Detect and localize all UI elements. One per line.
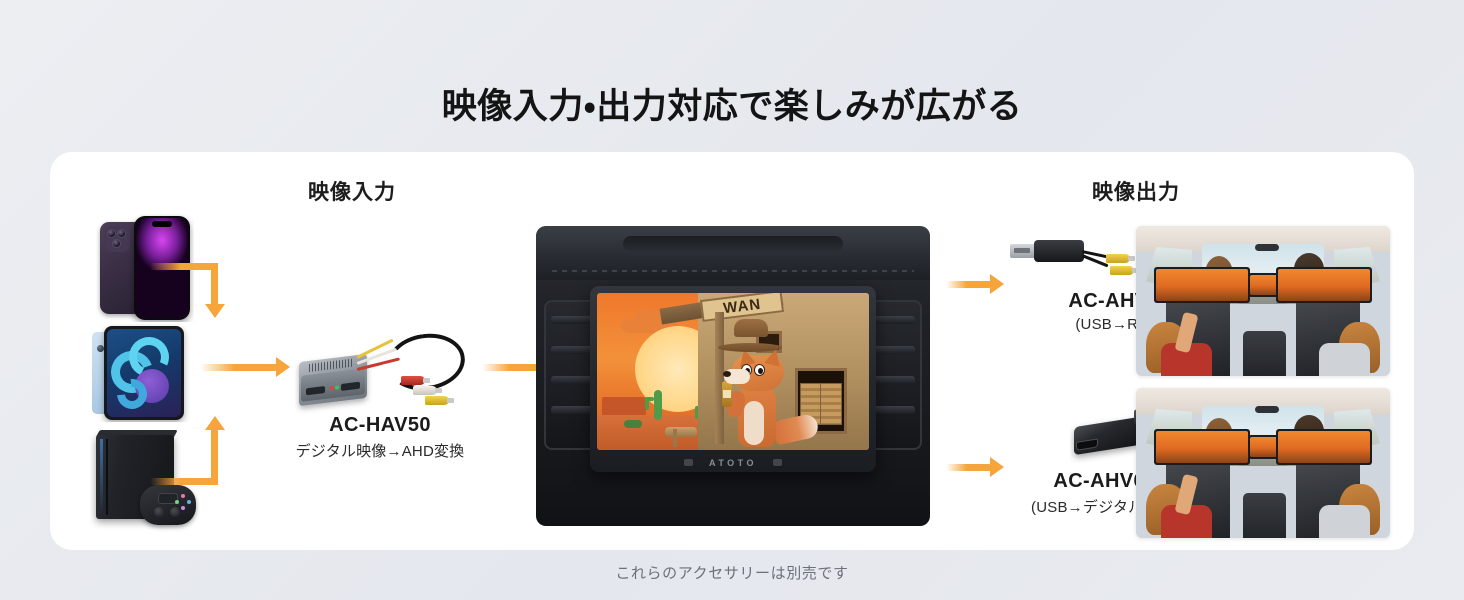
power-led-icon — [330, 386, 334, 390]
console-seam — [106, 439, 108, 515]
converter-name: AC-HAV50 — [250, 414, 510, 437]
usb-plug-icon — [1010, 244, 1036, 258]
camera-module-icon — [105, 227, 130, 252]
section-label-output: 映像出力 — [1092, 176, 1180, 206]
arrow-headunit-to-ahv48 — [946, 281, 992, 288]
arrow-phone-horizontal — [150, 263, 218, 270]
dashboard-stitching — [552, 270, 914, 272]
notch-icon — [152, 221, 172, 227]
adapter-housing — [1034, 240, 1084, 262]
barrel-leg — [673, 429, 677, 447]
section-label-input: 映像入力 — [308, 176, 396, 206]
fox-character — [722, 331, 804, 447]
fox-head — [732, 355, 784, 391]
bottle-label — [723, 390, 731, 398]
controller-button-icon — [187, 500, 191, 504]
center-console — [1243, 331, 1286, 376]
cowboy-hat-brim — [718, 343, 782, 352]
cowboy-hat-crown — [734, 319, 768, 337]
controller-button-icon — [181, 506, 185, 510]
child-right-body — [1319, 505, 1370, 538]
headrest-monitor-right — [1276, 429, 1373, 465]
camera-lens-icon — [112, 239, 121, 248]
bottle-prop — [722, 381, 732, 407]
arrow-head-up-icon — [205, 416, 225, 430]
cactus-icon — [654, 390, 662, 420]
car-interior-photo-bottom — [1136, 388, 1390, 538]
barrel-table — [665, 427, 697, 437]
controller-stick — [170, 507, 180, 517]
saloon-sign: WAN — [700, 293, 784, 321]
camera-lens-icon — [107, 229, 116, 238]
tablet-camera-icon — [97, 345, 104, 352]
controller-button-icon — [181, 494, 185, 498]
bezel-button-left[interactable] — [684, 459, 693, 466]
console-light-bar — [100, 439, 103, 515]
rca-connector-yellow — [1110, 266, 1134, 275]
status-led-icon — [335, 385, 339, 389]
dongle-housing — [1074, 417, 1140, 455]
page-title: 映像入力・出力対応で楽しみが広がる — [0, 78, 1464, 129]
controller-stick — [154, 507, 164, 517]
converter-port — [306, 386, 325, 395]
rca-connector-yellow — [1106, 254, 1130, 263]
tablet-body — [104, 326, 184, 420]
arrow-console-horizontal — [150, 478, 218, 485]
dashboard-speaker-grille — [623, 236, 844, 252]
bezel-button-right[interactable] — [773, 459, 782, 466]
diagram-card: 映像入力 映像出力 — [50, 152, 1414, 550]
headrest-monitor-left — [1154, 429, 1251, 465]
rca-connector-red — [401, 376, 425, 385]
converter-subtitle: デジタル映像→AHD変換 — [250, 440, 510, 461]
converter-ac-hav50-image — [295, 320, 475, 416]
car-head-unit-image: WAN — [536, 226, 930, 526]
rear-view-mirror — [1255, 244, 1279, 251]
head-unit-bezel: WAN — [590, 286, 876, 472]
fox-nose — [723, 371, 731, 377]
rca-connector-white — [413, 386, 437, 395]
arrow-tablet-horizontal — [200, 364, 278, 371]
fox-eye — [754, 364, 765, 376]
footnote: これらのアクセサリーは別売です — [0, 562, 1464, 583]
converter-front-face — [301, 368, 365, 402]
arrow-converter-to-headunit — [482, 364, 544, 371]
car-interior-photo-top — [1136, 226, 1390, 376]
rca-connector-yellow — [425, 396, 449, 405]
adapter-ac-ahv48-image — [1010, 230, 1140, 292]
fox-chest — [744, 401, 764, 445]
game-controller — [140, 485, 196, 525]
input-device-tablet — [90, 324, 194, 422]
rear-view-mirror — [1255, 406, 1279, 413]
converter-port — [341, 382, 360, 391]
swing-door-panel — [820, 383, 842, 425]
camera-lens-icon — [117, 229, 126, 238]
headrest-monitor-right — [1276, 267, 1373, 303]
desert-bush — [624, 420, 642, 428]
head-unit-screen[interactable]: WAN — [597, 293, 869, 450]
headrest-monitor-left — [1154, 267, 1251, 303]
controller-button-icon — [175, 500, 179, 504]
brand-logo: ATOTO — [709, 458, 757, 468]
converter-caption: AC-HAV50 デジタル映像→AHD変換 — [250, 414, 510, 461]
arrow-head-down-icon — [205, 304, 225, 318]
center-console — [1243, 493, 1286, 538]
child-right-body — [1319, 343, 1370, 376]
tablet-screen — [107, 329, 181, 417]
arrow-phone-corner — [211, 263, 218, 307]
arrow-head-right-icon — [276, 357, 290, 377]
arrow-console-corner — [211, 430, 218, 485]
video-port-icon — [1076, 438, 1098, 450]
